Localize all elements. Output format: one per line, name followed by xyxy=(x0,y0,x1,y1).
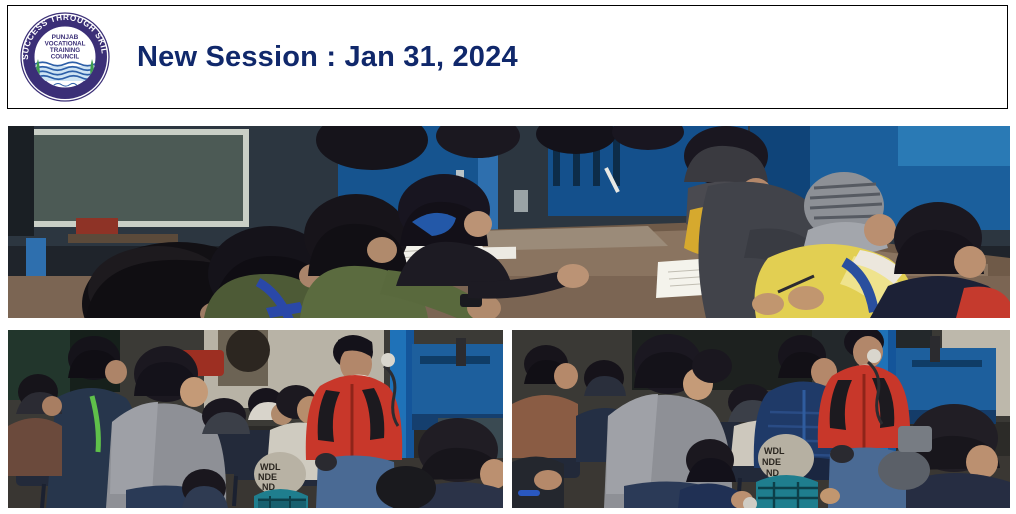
page-title: New Session : Jan 31, 2024 xyxy=(137,41,518,74)
logo-line-4: COUNCIL xyxy=(51,54,80,61)
logo-line-1: PUNJAB xyxy=(52,34,79,41)
council-logo: SUCCESS THROUGH SKILL PUNJAB VOCATIONAL … xyxy=(15,7,115,107)
logo-line-3: TRAINING xyxy=(50,47,80,54)
photo-gallery: Students seated at long tables writing i… xyxy=(8,126,1010,508)
svg-text:WDL: WDL xyxy=(764,446,785,456)
page-root: SUCCESS THROUGH SKILL PUNJAB VOCATIONAL … xyxy=(0,0,1016,514)
logo-line-2: VOCATIONAL xyxy=(45,41,86,48)
photo-bottom-left-workshop: Group of students and instructors gather… xyxy=(8,330,503,508)
photo-bottom-right-workshop: Instructor demonstrating to students cro… xyxy=(512,330,1010,508)
svg-text:NDE: NDE xyxy=(762,457,781,467)
photo-main-classroom: Students seated at long tables writing i… xyxy=(8,126,1010,318)
svg-text:NDE: NDE xyxy=(258,472,277,482)
svg-text:WDL: WDL xyxy=(260,462,281,472)
header-banner: SUCCESS THROUGH SKILL PUNJAB VOCATIONAL … xyxy=(7,5,1008,109)
